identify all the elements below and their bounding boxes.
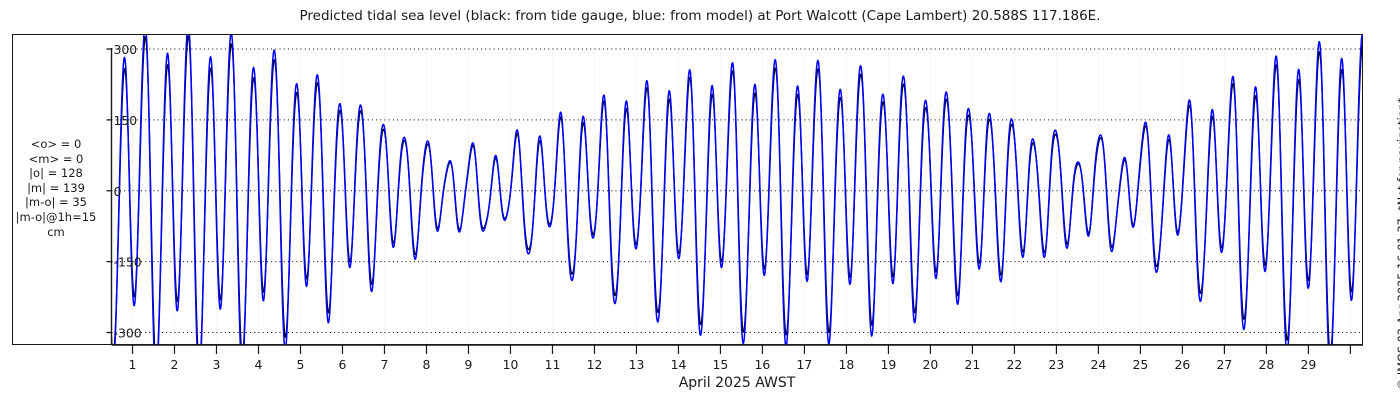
x-tick-label: 4 <box>255 357 263 372</box>
x-tick-label: 17 <box>797 357 813 372</box>
y-tick-label: -150 <box>114 255 142 270</box>
x-tick-label: 12 <box>587 357 603 372</box>
x-tick-label: 3 <box>213 357 221 372</box>
x-tick-label: 28 <box>1259 357 1275 372</box>
x-tick-label: 23 <box>1049 357 1065 372</box>
x-tick-label: 24 <box>1091 357 1107 372</box>
x-tick-label: 25 <box>1133 357 1149 372</box>
x-tick-label: 20 <box>923 357 939 372</box>
x-tick-label: 5 <box>297 357 305 372</box>
y-tick-label: 0 <box>114 184 122 199</box>
y-tick-label: 300 <box>114 42 138 57</box>
x-tick-label: 22 <box>1007 357 1023 372</box>
x-tick-label: 6 <box>339 357 347 372</box>
x-tick-label: 1 <box>129 357 137 372</box>
x-tick-label: 21 <box>965 357 981 372</box>
series-model <box>112 25 1364 379</box>
x-tick-label: 2 <box>171 357 179 372</box>
x-tick-label: 16 <box>755 357 771 372</box>
x-tick-label: 11 <box>545 357 561 372</box>
y-tick-label: -300 <box>114 326 142 341</box>
x-axis-title: April 2025 AWST <box>111 375 1363 391</box>
tidal-chart-figure: Predicted tidal sea level (black: from t… <box>0 0 1400 400</box>
x-tick-label: 9 <box>465 357 473 372</box>
x-tick-label: 15 <box>713 357 729 372</box>
x-tick-label: 7 <box>381 357 389 372</box>
x-tick-label: 18 <box>839 357 855 372</box>
plot-area: 3001500-150-3001234567891011121314151617… <box>0 0 1400 400</box>
x-tick-label: 29 <box>1301 357 1317 372</box>
x-tick-label: 19 <box>881 357 897 372</box>
y-tick-label: 150 <box>114 113 138 128</box>
x-tick-label: 13 <box>629 357 645 372</box>
x-tick-label: 14 <box>671 357 687 372</box>
x-tick-label: 8 <box>423 357 431 372</box>
copyright-text: © IMOS 02-Apr-2025 16:01:37. *Not for na… <box>1396 98 1400 390</box>
copyright-notice: © IMOS 02-Apr-2025 16:01:37. *Not for na… <box>1381 0 1400 400</box>
x-tick-label: 27 <box>1217 357 1233 372</box>
x-tick-label: 26 <box>1175 357 1191 372</box>
x-tick-label: 10 <box>503 357 519 372</box>
